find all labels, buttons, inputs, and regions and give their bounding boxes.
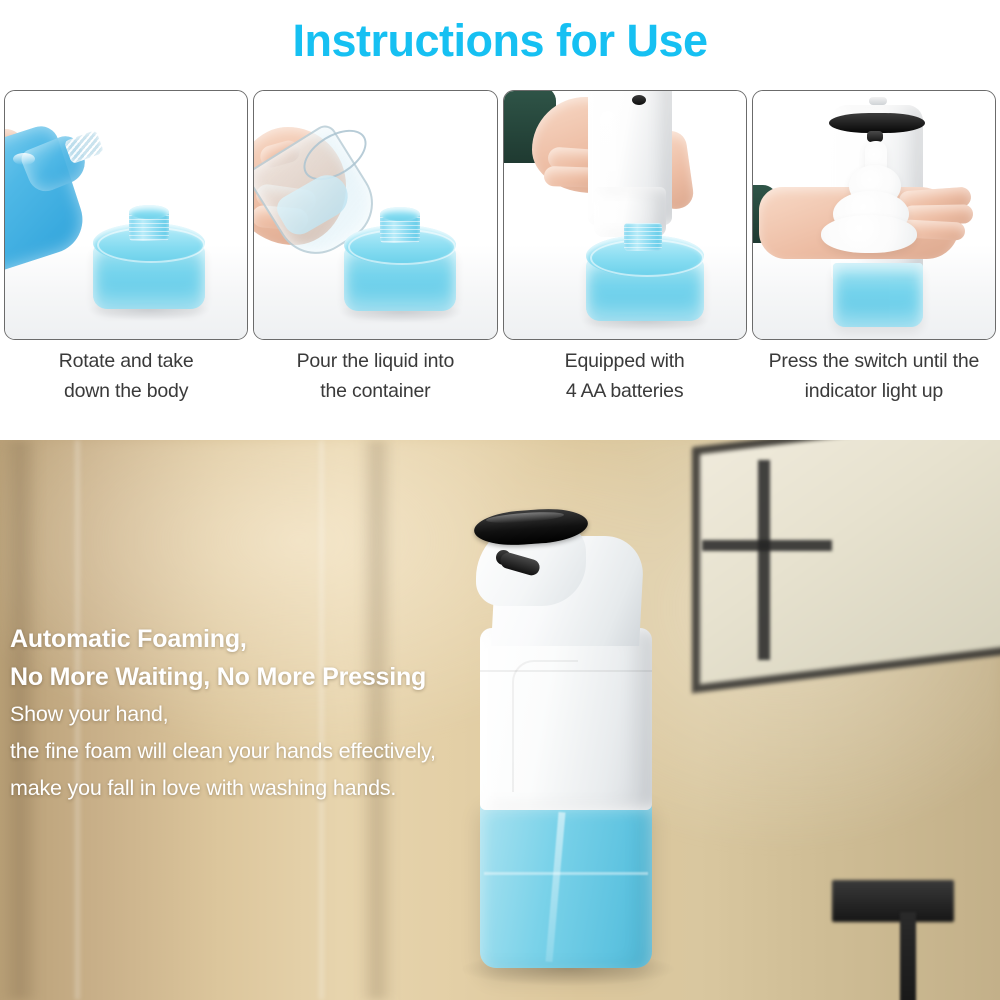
container-neck-top (129, 205, 169, 219)
step-caption-2: Pour the liquid into the container (253, 346, 497, 406)
mirror (700, 440, 1000, 684)
mirror-side-post (900, 912, 916, 1000)
product-liquid-line (484, 872, 648, 875)
instructions-section: Instructions for Use (0, 0, 1000, 440)
step-panel-1[interactable] (4, 90, 248, 340)
body-line-1: Show your hand, (10, 696, 480, 733)
step-caption-3-line1: Equipped with (503, 346, 747, 376)
dispenser-sensor-top (829, 113, 925, 133)
step-image-panels (4, 90, 996, 338)
product-reservoir (480, 800, 652, 968)
step-caption-2-line2: the container (253, 376, 497, 406)
dispenser-reservoir (833, 263, 923, 327)
step-4-illustration (753, 91, 995, 339)
mirror-frame-bar-horizontal (702, 540, 832, 551)
mirror-frame-bar-vertical (758, 460, 770, 660)
step-caption-4-line2: indicator light up (752, 376, 996, 406)
dispenser-sensor-dot (632, 95, 646, 105)
step-panel-3[interactable] (503, 90, 747, 340)
step-caption-1-line1: Rotate and take (4, 346, 248, 376)
foam-blob-base (821, 215, 917, 253)
page-title: Instructions for Use (0, 16, 1000, 66)
lifestyle-photo-section: Automatic Foaming, No More Waiting, No M… (0, 440, 1000, 1000)
container-neck-top (380, 207, 420, 221)
step-caption-2-line1: Pour the liquid into (253, 346, 497, 376)
dispenser-pump-tip (869, 97, 887, 105)
step-caption-4: Press the switch until the indicator lig… (752, 346, 996, 406)
headline-line-2: No More Waiting, No More Pressing (10, 658, 480, 696)
step-caption-1: Rotate and take down the body (4, 346, 248, 406)
step-caption-1-line2: down the body (4, 376, 248, 406)
step-caption-3-line2: 4 AA batteries (503, 376, 747, 406)
headline-line-1: Automatic Foaming, (10, 620, 480, 658)
step-1-illustration (5, 91, 247, 339)
step-3-illustration (504, 91, 746, 339)
body-line-3: make you fall in love with washing hands… (10, 770, 480, 807)
step-panel-4[interactable] (752, 90, 996, 340)
step-captions: Rotate and take down the body Pour the l… (4, 346, 996, 406)
marketing-copy: Automatic Foaming, No More Waiting, No M… (10, 620, 480, 807)
step-caption-3: Equipped with 4 AA batteries (503, 346, 747, 406)
step-caption-4-line1: Press the switch until the (752, 346, 996, 376)
product-panel-crease (512, 660, 578, 792)
bottle-thread-neck (64, 130, 104, 164)
step-panel-2[interactable] (253, 90, 497, 340)
container-thread-neck (624, 223, 662, 251)
body-line-2: the fine foam will clean your hands effe… (10, 733, 480, 770)
step-2-illustration (254, 91, 496, 339)
mirror-top-fixture (832, 880, 954, 922)
